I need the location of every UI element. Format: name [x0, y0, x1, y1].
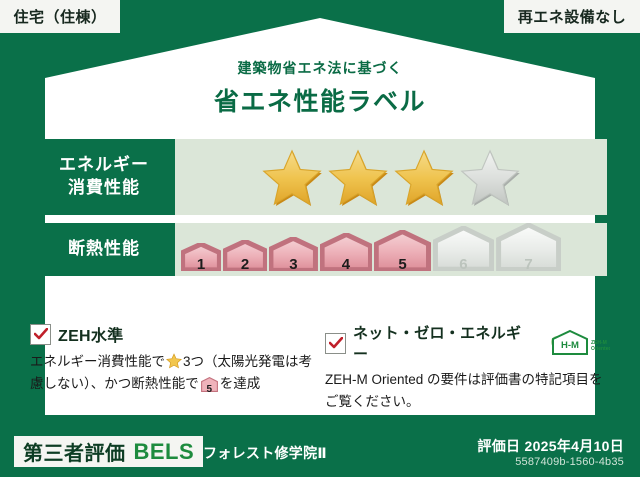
zeh-desc-part2: 3つ（太陽光発電 — [183, 354, 285, 369]
footer-third-party-label: 第三者評価 — [23, 437, 126, 466]
ratings-section: エネルギー 消費性能 断熱性能 1234567 — [33, 139, 607, 284]
zeh-title: ZEH水準 — [58, 322, 124, 346]
zeh-heading: ZEH水準 — [30, 322, 315, 346]
insulation-grade-scale: 1234567 — [181, 223, 561, 276]
zeh-desc-part1: エネルギー消費性能で — [30, 354, 165, 369]
check-icon — [34, 328, 48, 340]
grade-number: 4 — [320, 256, 373, 273]
inline-grade-badge: 5 — [201, 377, 218, 399]
star-filled-icon — [261, 148, 323, 206]
check-icon — [329, 337, 343, 349]
footer-document-id: 5587409b-1560-4b35 — [515, 456, 624, 468]
row-energy-label-line2: 消費性能 — [68, 177, 140, 200]
grade-number: 6 — [433, 256, 494, 273]
grade-house-4: 4 — [320, 233, 373, 276]
label-footer: 第三者評価 BELS フォレスト修学院Ⅱ 評価日 2025年4月10日 5587… — [0, 430, 640, 477]
zeh-description: エネルギー消費性能で3つ（太陽光発電は考慮しない）、かつ断熱性能で5を達成 — [30, 351, 315, 399]
row-insulation-performance: 断熱性能 1234567 — [33, 223, 607, 276]
grade-house-1: 1 — [181, 243, 221, 276]
inline-star-icon — [166, 353, 182, 369]
zeh-m-oriented-logo-icon: H-M ZEH-M Oriented — [548, 329, 610, 357]
grade-house-3: 3 — [269, 237, 317, 277]
row-energy-performance: エネルギー 消費性能 — [33, 139, 607, 215]
star-filled-icon — [393, 148, 455, 206]
zeh-desc-part4: を達成 — [220, 376, 261, 391]
row-insulation-value: 1234567 — [175, 223, 607, 276]
energy-performance-label: 住宅（住棟） 再エネ設備なし 建築物省エネ法に基づく 省エネ性能ラベル エネルギ… — [0, 0, 640, 477]
info-block-zeh: ZEH水準 エネルギー消費性能で3つ（太陽光発電は考慮しない）、かつ断熱性能で5… — [30, 322, 315, 399]
title-subtitle: 建築物省エネ法に基づく — [0, 58, 640, 78]
grade-number: 7 — [496, 256, 561, 273]
star-filled-icon — [327, 148, 389, 206]
row-energy-value — [175, 139, 607, 215]
row-energy-label-line1: エネルギー — [59, 154, 149, 177]
row-insulation-label: 断熱性能 — [33, 223, 175, 276]
tag-building-type: 住宅（住棟） — [0, 0, 120, 33]
grade-house-7: 7 — [496, 223, 561, 276]
tag-renewable-energy: 再エネ設備なし — [504, 0, 640, 33]
grade-house-6: 6 — [433, 226, 494, 276]
svg-text:Oriented: Oriented — [591, 346, 610, 352]
footer-bels-badge: 第三者評価 BELS — [14, 436, 203, 467]
grade-house-5: 5 — [374, 230, 431, 277]
grade-house-2: 2 — [223, 240, 267, 276]
zeh-checkbox — [30, 324, 51, 345]
footer-bels-label: BELS — [134, 439, 195, 465]
star-rating — [261, 148, 521, 206]
inline-grade-number: 5 — [201, 382, 218, 398]
row-insulation-label-text: 断熱性能 — [68, 238, 140, 261]
title-main: 省エネ性能ラベル — [0, 82, 640, 118]
netzero-title: ネット・ゼロ・エネルギー — [353, 322, 536, 364]
grade-number: 1 — [181, 256, 221, 273]
row-energy-label: エネルギー 消費性能 — [33, 139, 175, 215]
grade-number: 5 — [374, 256, 431, 273]
info-block-net-zero: ネット・ゼロ・エネルギー H-M ZEH-M Oriented ZEH-M Or… — [325, 322, 610, 413]
star-empty-icon — [459, 148, 521, 206]
footer-building-name: フォレスト修学院Ⅱ — [203, 443, 327, 463]
grade-number: 2 — [223, 256, 267, 273]
netzero-checkbox — [325, 333, 346, 354]
netzero-heading: ネット・ゼロ・エネルギー H-M ZEH-M Oriented — [325, 322, 610, 364]
netzero-description: ZEH-M Oriented の要件は評価書の特記項目をご覧ください。 — [325, 369, 610, 413]
grade-number: 3 — [269, 256, 317, 273]
footer-evaluation-date: 評価日 2025年4月10日 — [477, 436, 624, 456]
svg-text:H-M: H-M — [561, 340, 579, 351]
label-title-block: 建築物省エネ法に基づく 省エネ性能ラベル — [0, 58, 640, 118]
